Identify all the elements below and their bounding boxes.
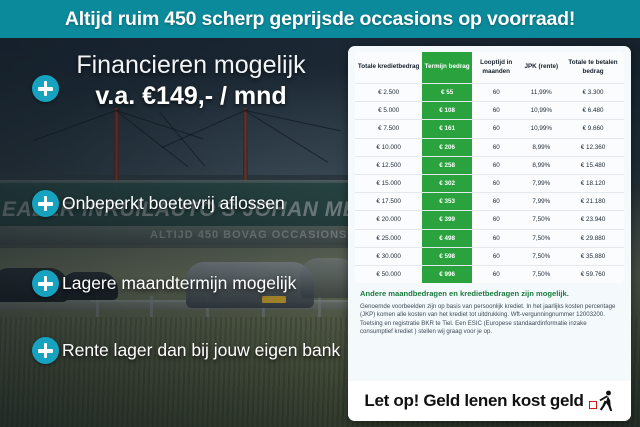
credit-warning-bar: Let op! Geld lenen kost geld xyxy=(348,381,631,421)
cell-total-credit: € 20.000 xyxy=(355,211,422,229)
headline-line-1: Financieren mogelijk xyxy=(18,50,338,80)
table-row: € 17.500€ 353607,99%€ 21.180 xyxy=(355,193,624,211)
table-row: € 2.500€ 556011,99%€ 3.300 xyxy=(355,84,624,102)
column-header-duration: Looptijd in maanden xyxy=(472,52,520,84)
cell-total-credit: € 17.500 xyxy=(355,193,422,211)
cell-monthly-amount: € 206 xyxy=(422,138,472,156)
cell-total-credit: € 2.500 xyxy=(355,84,422,102)
cell-monthly-amount: € 498 xyxy=(422,229,472,247)
feature-item-3: Rente lager dan bij jouw eigen bank xyxy=(62,337,340,364)
cell-monthly-amount: € 161 xyxy=(422,120,472,138)
feature-item-1: Onbeperkt boetevrij aflossen xyxy=(62,190,285,217)
table-row: € 30.000€ 598607,50%€ 35.880 xyxy=(355,247,624,265)
cell-apr: 7,50% xyxy=(520,229,562,247)
cell-total-payable: € 12.360 xyxy=(562,138,624,156)
cell-duration: 60 xyxy=(472,120,520,138)
money-warning-icon xyxy=(589,390,615,412)
feature-item-2: Lagere maandtermijn mogelijk xyxy=(62,270,296,297)
cell-apr: 10,99% xyxy=(520,120,562,138)
legal-heading: Andere maandbedragen en kredietbedragen … xyxy=(360,289,619,299)
cell-monthly-amount: € 996 xyxy=(422,265,472,283)
column-header-monthly-amount: Termijn bedrag xyxy=(422,52,472,84)
cell-total-payable: € 15.480 xyxy=(562,156,624,174)
cell-monthly-amount: € 108 xyxy=(422,102,472,120)
cell-total-credit: € 25.000 xyxy=(355,229,422,247)
cell-total-payable: € 29.880 xyxy=(562,229,624,247)
cell-total-payable: € 35.880 xyxy=(562,247,624,265)
cell-duration: 60 xyxy=(472,229,520,247)
advertisement-banner: EALER INRUILAUTO'S JOHAN MEURE ALTIJD 45… xyxy=(0,0,640,427)
cell-apr: 8,99% xyxy=(520,156,562,174)
cell-total-payable: € 23.940 xyxy=(562,211,624,229)
cell-total-credit: € 50.000 xyxy=(355,265,422,283)
cell-total-credit: € 15.000 xyxy=(355,174,422,192)
table-row: € 50.000€ 996607,50%€ 59.760 xyxy=(355,265,624,283)
cell-total-payable: € 59.760 xyxy=(562,265,624,283)
cell-duration: 60 xyxy=(472,247,520,265)
cell-apr: 10,99% xyxy=(520,102,562,120)
cell-apr: 7,99% xyxy=(520,174,562,192)
page-title: Financieren mogelijk v.a. €149,- / mnd xyxy=(18,50,338,112)
cell-total-credit: € 10.000 xyxy=(355,138,422,156)
headline-line-2: v.a. €149,- / mnd xyxy=(18,80,338,112)
cell-duration: 60 xyxy=(472,138,520,156)
rates-table: Totale kredietbedrag Termijn bedrag Loop… xyxy=(355,52,624,283)
cell-apr: 7,50% xyxy=(520,247,562,265)
cell-total-credit: € 12.500 xyxy=(355,156,422,174)
banner-headline: Altijd ruim 450 scherp geprijsde occasio… xyxy=(65,8,575,31)
cell-monthly-amount: € 399 xyxy=(422,211,472,229)
plus-icon xyxy=(32,270,59,297)
cell-apr: 7,50% xyxy=(520,211,562,229)
top-banner: Altijd ruim 450 scherp geprijsde occasio… xyxy=(0,0,640,38)
table-row: € 15.000€ 302607,99%€ 18.120 xyxy=(355,174,624,192)
cell-monthly-amount: € 353 xyxy=(422,193,472,211)
cell-duration: 60 xyxy=(472,211,520,229)
credit-warning-text: Let op! Geld lenen kost geld xyxy=(364,391,583,411)
legal-body: Genoemde voorbeelden zijn op basis van p… xyxy=(360,303,619,337)
cell-monthly-amount: € 258 xyxy=(422,156,472,174)
legal-disclaimer: Andere maandbedragen en kredietbedragen … xyxy=(348,283,631,337)
cell-monthly-amount: € 55 xyxy=(422,84,472,102)
cell-total-credit: € 5.000 xyxy=(355,102,422,120)
cell-total-payable: € 21.180 xyxy=(562,193,624,211)
cell-monthly-amount: € 302 xyxy=(422,174,472,192)
column-header-apr: JPK (rente) xyxy=(520,52,562,84)
table-header-row: Totale kredietbedrag Termijn bedrag Loop… xyxy=(355,52,624,84)
plus-icon xyxy=(32,190,59,217)
table-row: € 7.500€ 1616010,99%€ 9.660 xyxy=(355,120,624,138)
cell-total-payable: € 18.120 xyxy=(562,174,624,192)
cell-total-credit: € 30.000 xyxy=(355,247,422,265)
cell-duration: 60 xyxy=(472,102,520,120)
walking-person-glyph xyxy=(597,390,615,412)
cell-total-credit: € 7.500 xyxy=(355,120,422,138)
table-row: € 10.000€ 206608,99%€ 12.360 xyxy=(355,138,624,156)
cell-apr: 7,50% xyxy=(520,265,562,283)
rates-table-wrapper: Totale kredietbedrag Termijn bedrag Loop… xyxy=(355,52,624,283)
table-row: € 5.000€ 1086010,99%€ 6.480 xyxy=(355,102,624,120)
cell-total-payable: € 6.480 xyxy=(562,102,624,120)
cell-total-payable: € 3.300 xyxy=(562,84,624,102)
table-row: € 20.000€ 399607,50%€ 23.940 xyxy=(355,211,624,229)
left-feature-panel: Financieren mogelijk v.a. €149,- / mnd O… xyxy=(0,38,348,427)
column-header-total-credit: Totale kredietbedrag xyxy=(355,52,422,84)
cell-apr: 11,99% xyxy=(520,84,562,102)
table-row: € 12.500€ 258608,99%€ 15.480 xyxy=(355,156,624,174)
cell-duration: 60 xyxy=(472,265,520,283)
cell-duration: 60 xyxy=(472,193,520,211)
financing-card: Totale kredietbedrag Termijn bedrag Loop… xyxy=(348,46,631,421)
cell-apr: 7,99% xyxy=(520,193,562,211)
cell-duration: 60 xyxy=(472,174,520,192)
cell-duration: 60 xyxy=(472,84,520,102)
table-row: € 25.000€ 498607,50%€ 29.880 xyxy=(355,229,624,247)
column-header-total-payable: Totale te betalen bedrag xyxy=(562,52,624,84)
cell-apr: 8,99% xyxy=(520,138,562,156)
cell-total-payable: € 9.660 xyxy=(562,120,624,138)
cell-duration: 60 xyxy=(472,156,520,174)
plus-icon xyxy=(32,337,59,364)
warning-box-shape xyxy=(589,401,597,409)
cell-monthly-amount: € 598 xyxy=(422,247,472,265)
